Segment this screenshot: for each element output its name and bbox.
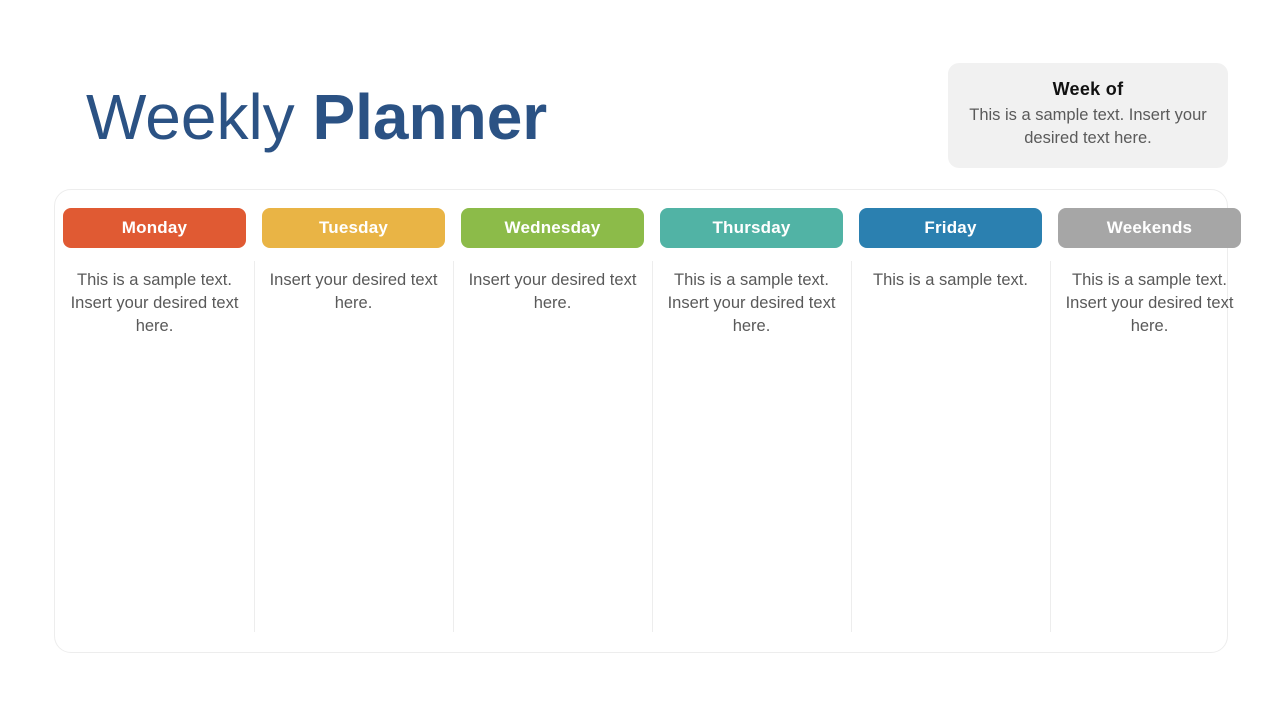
week-of-text: This is a sample text. Insert your desir… [964, 104, 1212, 150]
day-pill-thursday[interactable]: Thursday [660, 208, 843, 248]
day-pill-monday[interactable]: Monday [63, 208, 246, 248]
planner-column-tuesday: Tuesday Insert your desired text here. [254, 190, 453, 652]
planner-column-friday: Friday This is a sample text. [851, 190, 1050, 652]
day-note-wednesday[interactable]: Insert your desired text here. [469, 269, 637, 315]
day-note-monday[interactable]: This is a sample text. Insert your desir… [71, 269, 239, 338]
day-pill-weekends[interactable]: Weekends [1058, 208, 1241, 248]
planner-column-wednesday: Wednesday Insert your desired text here. [453, 190, 652, 652]
planner-card: Monday This is a sample text. Insert you… [54, 189, 1228, 653]
planner-column-thursday: Thursday This is a sample text. Insert y… [652, 190, 851, 652]
week-of-box[interactable]: Week of This is a sample text. Insert yo… [948, 63, 1228, 168]
planner-column-monday: Monday This is a sample text. Insert you… [55, 190, 254, 652]
page-title: Weekly Planner [86, 78, 547, 156]
day-pill-tuesday[interactable]: Tuesday [262, 208, 445, 248]
day-pill-wednesday[interactable]: Wednesday [461, 208, 644, 248]
planner-column-weekends: Weekends This is a sample text. Insert y… [1050, 190, 1249, 652]
day-note-friday[interactable]: This is a sample text. [867, 269, 1035, 292]
page-title-light: Weekly [86, 81, 312, 153]
day-note-tuesday[interactable]: Insert your desired text here. [270, 269, 438, 315]
page-title-bold: Planner [312, 81, 547, 153]
day-pill-friday[interactable]: Friday [859, 208, 1042, 248]
day-note-thursday[interactable]: This is a sample text. Insert your desir… [668, 269, 836, 338]
day-note-weekends[interactable]: This is a sample text. Insert your desir… [1066, 269, 1234, 338]
planner-columns: Monday This is a sample text. Insert you… [55, 190, 1227, 652]
week-of-title: Week of [964, 77, 1212, 101]
